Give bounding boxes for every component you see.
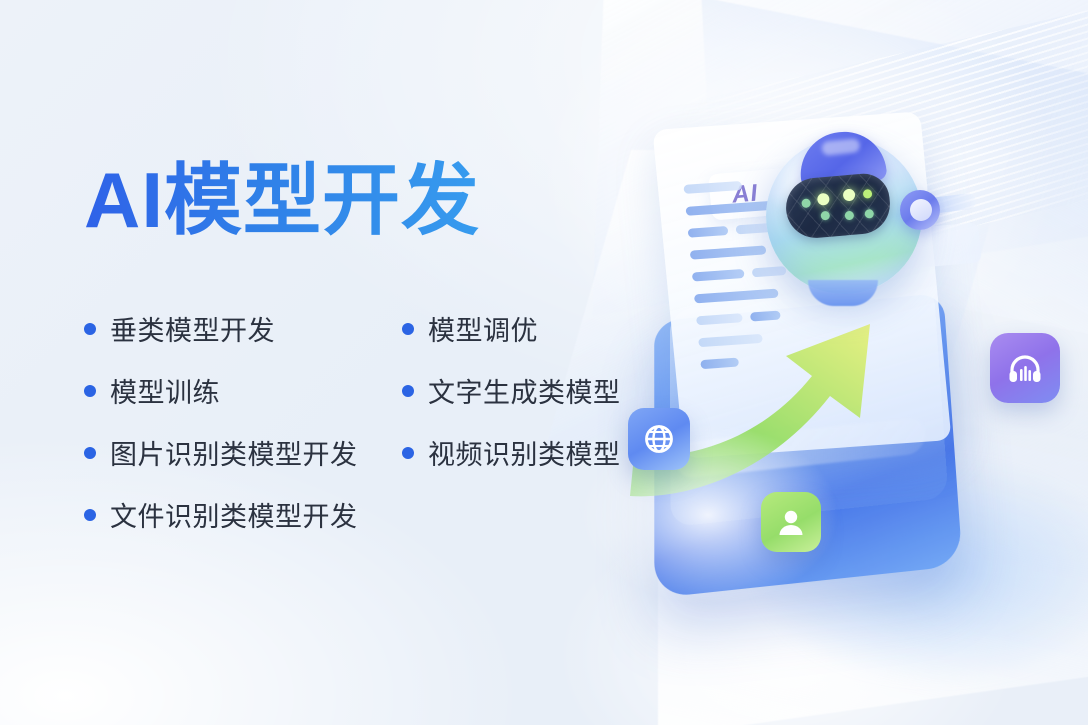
document-line bbox=[688, 226, 729, 238]
badge-headphones[interactable] bbox=[990, 333, 1060, 403]
feature-label: 模型调优 bbox=[428, 309, 538, 348]
feature-item: 垂类模型开发 bbox=[84, 298, 402, 360]
bullet-dot-icon bbox=[402, 385, 414, 397]
feature-item: 图片识别类模型开发 bbox=[84, 422, 402, 484]
bullet-dot-icon bbox=[84, 447, 96, 459]
document-line bbox=[683, 181, 742, 194]
visor-grid-pattern bbox=[784, 172, 893, 241]
feature-list: 垂类模型开发 模型调优 模型训练 文字生成类模型 图片识别类模型开发 视频识别类… bbox=[84, 298, 684, 546]
feature-label: 图片识别类模型开发 bbox=[110, 433, 358, 472]
feature-item: 模型训练 bbox=[84, 360, 402, 422]
badge-person[interactable] bbox=[761, 492, 821, 552]
bullet-dot-icon bbox=[84, 385, 96, 397]
robot-visor-screen bbox=[784, 172, 893, 241]
person-icon bbox=[775, 506, 807, 538]
page-title: AI模型开发 bbox=[84, 160, 684, 242]
bullet-dot-icon bbox=[402, 323, 414, 335]
feature-item: 文件识别类模型开发 bbox=[84, 484, 402, 546]
feature-item: 文字生成类模型 bbox=[402, 360, 684, 422]
ai-model-development-banner: AI模型开发 垂类模型开发 模型调优 模型训练 文字生成类模型 图片识别类模型开… bbox=[0, 0, 1088, 725]
bullet-dot-icon bbox=[84, 323, 96, 335]
headphones-icon bbox=[1006, 349, 1044, 387]
feature-label: 视频识别类模型 bbox=[428, 433, 621, 472]
bullet-dot-icon bbox=[84, 509, 96, 521]
bullet-dot-icon bbox=[402, 447, 414, 459]
feature-label: 垂类模型开发 bbox=[110, 309, 275, 348]
feature-item: 视频识别类模型 bbox=[402, 422, 684, 484]
ai-robot bbox=[766, 138, 922, 294]
ai-illustration: AI bbox=[618, 0, 1088, 725]
document-line bbox=[692, 269, 745, 282]
feature-label: 模型训练 bbox=[110, 371, 220, 410]
feature-item-placeholder bbox=[402, 484, 684, 546]
robot-earpiece bbox=[900, 190, 940, 230]
banner-content: AI模型开发 垂类模型开发 模型调优 模型训练 文字生成类模型 图片识别类模型开… bbox=[84, 160, 684, 546]
document-line bbox=[690, 245, 767, 259]
feature-label: 文字生成类模型 bbox=[428, 371, 621, 410]
feature-label: 文件识别类模型开发 bbox=[110, 495, 358, 534]
feature-item: 模型调优 bbox=[402, 298, 684, 360]
